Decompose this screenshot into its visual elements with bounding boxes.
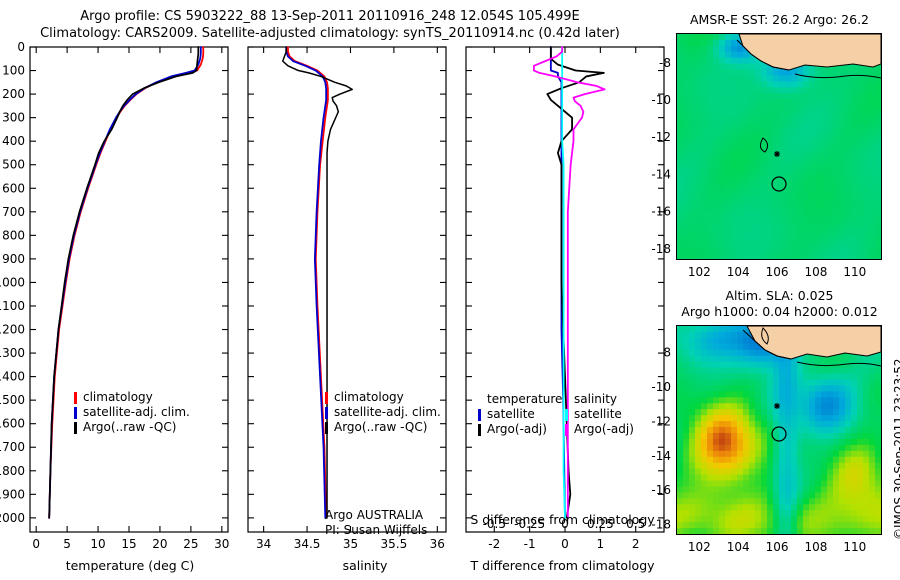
svg-text:108: 108 — [804, 540, 827, 554]
legend-label: satellite-adj. clim. — [334, 405, 441, 420]
legend-label: Argo(-adj) — [574, 422, 634, 437]
svg-text:600: 600 — [2, 181, 25, 195]
legend-swatch-salinity-satellite — [565, 409, 568, 421]
map-title-sla-line2: Argo h1000: 0.04 h2000: 0.012 — [672, 304, 887, 320]
svg-text:1500: 1500 — [0, 393, 25, 407]
legend-group-label: salinity — [574, 392, 617, 407]
legend-swatch-argo — [74, 422, 77, 434]
svg-text:20: 20 — [152, 537, 167, 551]
svg-text:1900: 1900 — [0, 487, 25, 501]
legend-temperature-panel: climatology satellite-adj. clim. Argo(..… — [74, 390, 190, 435]
svg-text:800: 800 — [2, 228, 25, 242]
legend-difference-salinity: salinity satellite Argo(-adj) — [565, 392, 634, 437]
legend-swatch-temperature-satellite — [478, 409, 481, 421]
svg-text:-16: -16 — [651, 205, 671, 219]
legend-label: Argo(-adj) — [487, 422, 547, 437]
svg-text:1700: 1700 — [0, 440, 25, 454]
legend-item: satellite — [478, 407, 562, 422]
svg-text:0: 0 — [32, 537, 40, 551]
svg-text:1400: 1400 — [0, 370, 25, 384]
svg-text:-10: -10 — [651, 380, 671, 394]
legend-swatch-salinity-argo — [565, 424, 568, 436]
svg-text:-14: -14 — [651, 167, 671, 181]
legend-label: Argo(..raw -QC) — [83, 420, 176, 435]
legend-item: Argo(..raw -QC) — [325, 420, 441, 435]
svg-text:-12: -12 — [651, 130, 671, 144]
argo-program-name: Argo AUSTRALIA — [325, 508, 427, 523]
svg-text:300: 300 — [2, 111, 25, 125]
svg-text:400: 400 — [2, 134, 25, 148]
svg-text:102: 102 — [688, 265, 711, 279]
legend-item: Argo(-adj) — [478, 422, 562, 437]
legend-header-salinity: salinity — [565, 392, 634, 407]
svg-text:1000: 1000 — [0, 275, 25, 289]
svg-text:-16: -16 — [651, 483, 671, 497]
legend-difference-temperature: temperature satellite Argo(-adj) — [478, 392, 562, 437]
legend-swatch-satellite-adj — [74, 407, 77, 419]
argo-pi-name: PI: Susan Wijffels — [325, 523, 427, 538]
legend-label: climatology — [83, 390, 153, 405]
svg-text:2: 2 — [632, 537, 640, 551]
svg-text:-14: -14 — [651, 449, 671, 463]
svg-text:106: 106 — [766, 540, 789, 554]
svg-text:1100: 1100 — [0, 299, 25, 313]
svg-text:0: 0 — [17, 40, 25, 54]
legend-header-temperature: temperature — [478, 392, 562, 407]
xaxis-title-temperature: temperature (deg C) — [30, 558, 230, 573]
svg-text:1200: 1200 — [0, 323, 25, 337]
map-title-sst: AMSR-E SST: 26.2 Argo: 26.2 — [672, 12, 887, 28]
svg-text:1600: 1600 — [0, 417, 25, 431]
svg-text:110: 110 — [843, 265, 866, 279]
legend-item: climatology — [74, 390, 190, 405]
legend-label: climatology — [334, 390, 404, 405]
svg-text:35: 35 — [343, 537, 358, 551]
svg-text:102: 102 — [688, 540, 711, 554]
svg-text:1300: 1300 — [0, 346, 25, 360]
svg-text:-10: -10 — [651, 93, 671, 107]
xaxis-title-s-difference: S difference from climatology — [460, 512, 665, 527]
svg-text:106: 106 — [766, 265, 789, 279]
svg-text:35.5: 35.5 — [381, 537, 408, 551]
map-amsre-sst[interactable] — [676, 33, 882, 260]
legend-swatch-argo — [325, 422, 328, 434]
svg-text:104: 104 — [727, 265, 750, 279]
svg-text:500: 500 — [2, 158, 25, 172]
legend-swatch-satellite-adj — [325, 407, 328, 419]
svg-text:30: 30 — [214, 537, 229, 551]
svg-text:900: 900 — [2, 252, 25, 266]
svg-text:108: 108 — [804, 265, 827, 279]
legend-item: satellite — [565, 407, 634, 422]
legend-item: Argo(..raw -QC) — [74, 420, 190, 435]
map-title-sla: Altim. SLA: 0.025 Argo h1000: 0.04 h2000… — [672, 288, 887, 320]
map-sst-canvas — [677, 34, 881, 259]
svg-text:110: 110 — [843, 540, 866, 554]
map-altimetry-sla[interactable] — [676, 325, 882, 535]
legend-group-label: temperature — [487, 392, 562, 407]
svg-text:0: 0 — [561, 537, 569, 551]
svg-text:-2: -2 — [488, 537, 500, 551]
legend-label: satellite — [487, 407, 535, 422]
map-title-sla-line1: Altim. SLA: 0.025 — [672, 288, 887, 304]
svg-text:2000: 2000 — [0, 511, 25, 525]
map-sla-canvas — [677, 326, 881, 534]
svg-text:-8: -8 — [659, 346, 671, 360]
svg-text:34: 34 — [256, 537, 271, 551]
xaxis-title-t-difference: T difference from climatology — [460, 558, 665, 573]
svg-text:100: 100 — [2, 64, 25, 78]
xaxis-title-salinity: salinity — [265, 558, 465, 573]
svg-text:1800: 1800 — [0, 464, 25, 478]
svg-text:34.5: 34.5 — [294, 537, 321, 551]
svg-text:-12: -12 — [651, 414, 671, 428]
svg-text:-18: -18 — [651, 242, 671, 256]
svg-text:700: 700 — [2, 205, 25, 219]
legend-label: satellite-adj. clim. — [83, 405, 190, 420]
imos-credit: ©IMOS 30-Sep-2011 23:23:52 — [892, 358, 900, 540]
legend-swatch-temperature-argo — [478, 424, 481, 436]
svg-text:5: 5 — [63, 537, 71, 551]
svg-text:200: 200 — [2, 87, 25, 101]
svg-text:15: 15 — [121, 537, 136, 551]
legend-item: satellite-adj. clim. — [74, 405, 190, 420]
legend-item: Argo(-adj) — [565, 422, 634, 437]
svg-text:104: 104 — [727, 540, 750, 554]
argo-program-note: Argo AUSTRALIA PI: Susan Wijffels — [325, 508, 427, 538]
legend-item: climatology — [325, 390, 441, 405]
legend-label: satellite — [574, 407, 622, 422]
legend-swatch-climatology — [74, 392, 77, 404]
svg-text:10: 10 — [90, 537, 105, 551]
svg-text:36: 36 — [430, 537, 445, 551]
svg-text:-8: -8 — [659, 56, 671, 70]
svg-text:1: 1 — [597, 537, 605, 551]
legend-label: Argo(..raw -QC) — [334, 420, 427, 435]
legend-salinity-panel: climatology satellite-adj. clim. Argo(..… — [325, 390, 441, 435]
svg-text:25: 25 — [183, 537, 198, 551]
legend-item: satellite-adj. clim. — [325, 405, 441, 420]
legend-swatch-climatology — [325, 392, 328, 404]
svg-text:-1: -1 — [524, 537, 536, 551]
